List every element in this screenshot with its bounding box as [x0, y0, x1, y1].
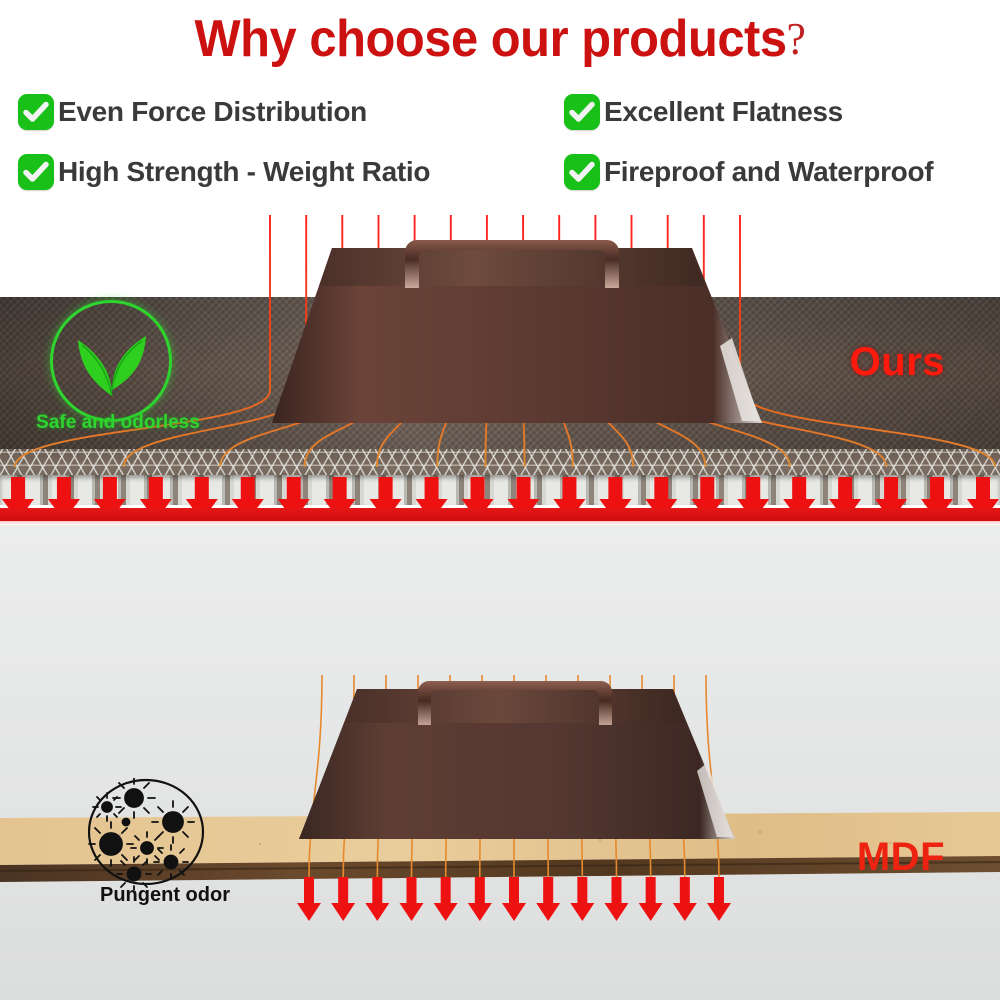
force-arrow — [365, 877, 389, 921]
pros-item-label: High Strength - Weight Ratio — [58, 156, 430, 188]
force-arrow — [707, 877, 731, 921]
force-arrow — [605, 877, 629, 921]
pros-item-fireproof: Fireproof and Waterproof — [564, 154, 933, 190]
check-icon — [564, 94, 600, 130]
ours-weight-block — [262, 228, 762, 433]
check-icon — [18, 154, 54, 190]
pros-list: Even Force Distribution Excellent Flatne… — [0, 82, 1000, 212]
force-arrow — [639, 877, 663, 921]
check-icon — [18, 94, 54, 130]
pros-row-2: High Strength - Weight Ratio Fireproof a… — [0, 154, 1000, 206]
leaf-icon — [68, 318, 156, 406]
pros-item-strength-weight: High Strength - Weight Ratio — [18, 154, 430, 190]
germ-cluster-icon — [78, 778, 238, 890]
title-question-mark: ? — [787, 13, 806, 64]
pros-item-label: Fireproof and Waterproof — [604, 156, 933, 188]
title-main: Why choose our products — [195, 10, 787, 68]
mdf-label: MDF — [857, 835, 945, 880]
pros-row-1: Even Force Distribution Excellent Flatne… — [0, 94, 1000, 146]
mdf-illustration: Pungent odor MDF — [0, 525, 1000, 1000]
eco-badge: Safe and odorless — [40, 300, 190, 445]
force-arrow — [570, 877, 594, 921]
page-title: Why choose our products? — [0, 0, 1000, 78]
force-arrow — [468, 877, 492, 921]
force-arrow — [502, 877, 526, 921]
pros-item-label: Excellent Flatness — [604, 96, 843, 128]
force-arrow — [536, 877, 560, 921]
pros-item-label: Even Force Distribution — [58, 96, 367, 128]
force-arrow — [434, 877, 458, 921]
force-arrow — [400, 877, 424, 921]
check-icon — [564, 154, 600, 190]
eco-badge-label: Safe and odorless — [18, 412, 218, 434]
force-arrow — [331, 877, 355, 921]
force-arrow — [297, 877, 321, 921]
pros-item-flatness: Excellent Flatness — [564, 94, 843, 130]
pros-item-even-force: Even Force Distribution — [18, 94, 367, 130]
force-arrow — [673, 877, 697, 921]
mdf-weight-block — [295, 667, 735, 847]
ours-label: Ours — [850, 340, 945, 385]
title-text-wrap: Why choose our products? — [195, 13, 806, 65]
infographic-page: Why choose our products? Even Force Dist… — [0, 0, 1000, 1000]
odor-badge-label: Pungent odor — [70, 884, 260, 907]
odor-badge: Pungent odor — [78, 778, 248, 903]
section-divider-bar — [0, 508, 1000, 521]
